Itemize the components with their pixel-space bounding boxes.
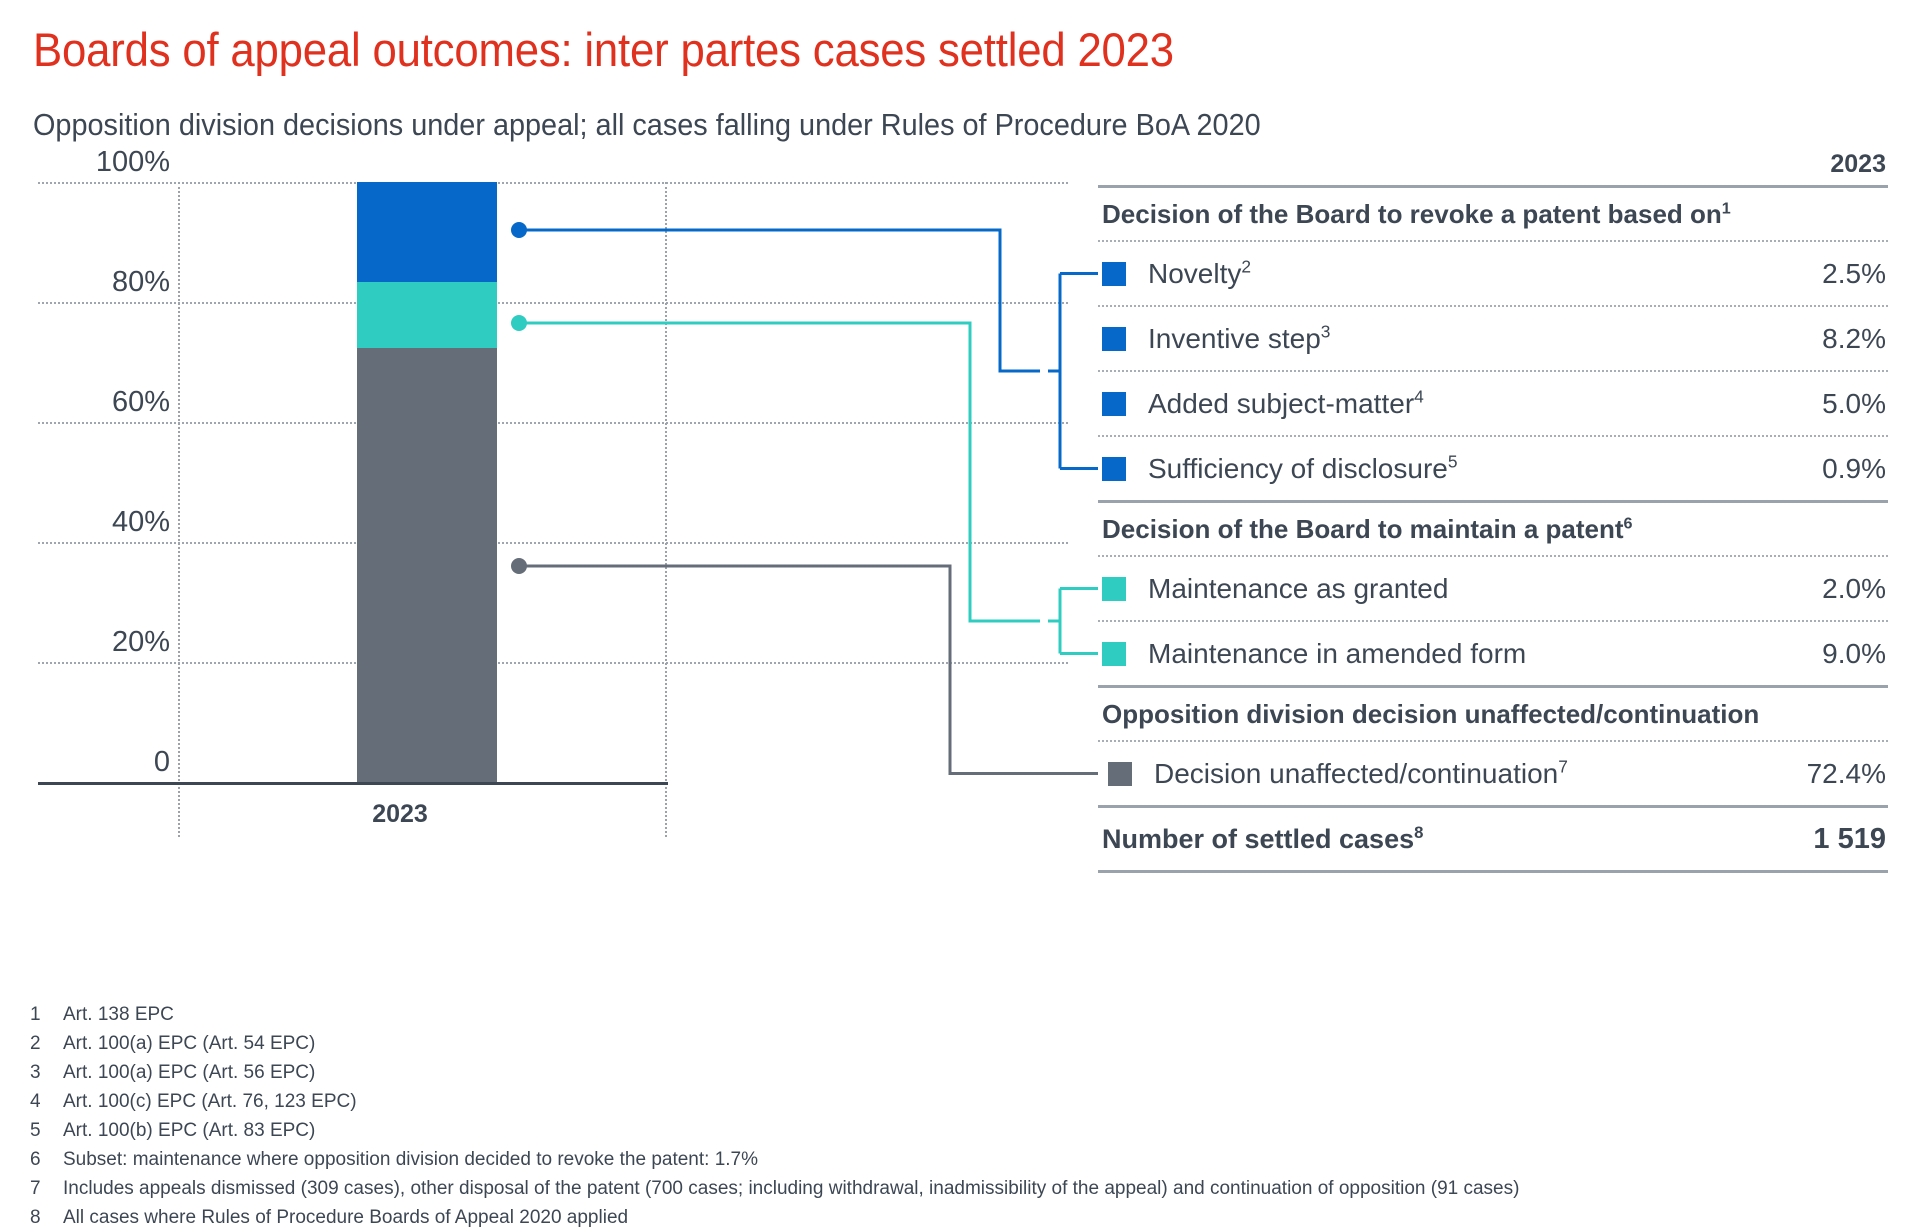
bar-segment[interactable] [357,348,497,782]
y-axis-tick-label: 40% [30,506,170,538]
legend-row-value: 2.5% [1822,258,1888,290]
legend-row-label: Maintenance as granted [1148,573,1822,605]
legend-color-swatch [1102,392,1126,416]
footnote-number: 8 [30,1203,63,1232]
footnote-number: 3 [30,1058,63,1087]
y-axis-tick-label: 20% [30,626,170,658]
legend-row-label: Inventive step3 [1148,323,1822,355]
footnote-text: Includes appeals dismissed (309 cases), … [63,1174,1890,1203]
legend-total-rule-bottom [1098,870,1888,873]
footnote-marker: 2 [1241,256,1251,276]
legend-row-label: Added subject-matter4 [1148,388,1822,420]
legend-row[interactable]: Inventive step38.2% [1098,307,1888,370]
gridline [38,542,1068,544]
legend-row-value: 2.0% [1822,573,1888,605]
footnote-text: Art. 100(a) EPC (Art. 56 EPC) [63,1058,1890,1087]
chart-page: Boards of appeal outcomes: inter partes … [0,0,1920,1080]
bar-segment[interactable] [357,182,497,282]
legend-row-label: Sufficiency of disclosure5 [1148,453,1822,485]
legend-color-swatch [1108,762,1132,786]
legend-row-value: 0.9% [1822,453,1888,485]
vertical-gridline [665,182,667,837]
footnote-text: Art. 138 EPC [63,1000,1890,1029]
footnote-number: 5 [30,1116,63,1145]
legend-row[interactable]: Maintenance as granted2.0% [1098,557,1888,620]
legend-row-value: 5.0% [1822,388,1888,420]
gridline [38,302,1068,304]
legend-row-label: Decision unaffected/continuation7 [1154,758,1807,790]
bar-chart: 100%80%60%40%20%0 2023 [0,150,1110,710]
legend-total-label: Number of settled cases8 [1102,824,1813,855]
legend-table: 2023 Decision of the Board to revoke a p… [1098,150,1888,873]
page-title: Boards of appeal outcomes: inter partes … [33,22,1174,78]
footnote-marker: 4 [1414,386,1424,406]
footnote-item: 2Art. 100(a) EPC (Art. 54 EPC) [30,1029,1890,1058]
legend-row-label: Novelty2 [1148,258,1822,290]
legend-row[interactable]: Sufficiency of disclosure50.9% [1098,437,1888,500]
legend-section-heading: Decision of the Board to revoke a patent… [1098,188,1888,240]
footnote-number: 6 [30,1145,63,1174]
legend-color-swatch [1102,327,1126,351]
y-axis-tick-label: 0 [30,746,170,778]
footnote-number: 4 [30,1087,63,1116]
legend-row-label: Maintenance in amended form [1148,638,1822,670]
footnote-item: 1Art. 138 EPC [30,1000,1890,1029]
gridline [38,182,1068,184]
footnote-item: 6Subset: maintenance where opposition di… [30,1145,1890,1174]
page-subtitle: Opposition division decisions under appe… [33,106,1261,144]
legend-color-swatch [1102,262,1126,286]
footnotes-list: 1Art. 138 EPC2Art. 100(a) EPC (Art. 54 E… [30,1000,1890,1232]
legend-row[interactable]: Maintenance in amended form9.0% [1098,622,1888,685]
legend-row-value: 9.0% [1822,638,1888,670]
footnote-text: Art. 100(c) EPC (Art. 76, 123 EPC) [63,1087,1890,1116]
legend-row-value: 8.2% [1822,323,1888,355]
gridline [38,662,1068,664]
footnote-text: Art. 100(a) EPC (Art. 54 EPC) [63,1029,1890,1058]
vertical-gridline [178,182,180,837]
legend-body: Decision of the Board to revoke a patent… [1098,185,1888,873]
legend-total-row: Number of settled cases81 519 [1098,808,1888,870]
footnote-marker: 7 [1558,756,1568,776]
legend-color-swatch [1102,642,1126,666]
legend-total-value: 1 519 [1813,823,1888,856]
footnote-marker: 3 [1321,321,1331,341]
footnote-number: 2 [30,1029,63,1058]
x-axis-baseline [38,782,668,785]
legend-row-value: 72.4% [1807,758,1888,790]
footnote-item: 5Art. 100(b) EPC (Art. 83 EPC) [30,1116,1890,1145]
y-axis-tick-label: 80% [30,266,170,298]
legend-color-swatch [1102,457,1126,481]
legend-row[interactable]: Novelty22.5% [1098,242,1888,305]
y-axis-tick-label: 60% [30,386,170,418]
footnote-marker: 1 [1722,199,1731,217]
legend-color-swatch [1102,577,1126,601]
gridline [38,422,1068,424]
footnote-marker: 8 [1414,823,1423,842]
legend-section-heading: Opposition division decision unaffected/… [1098,688,1888,740]
footnote-item: 8All cases where Rules of Procedure Boar… [30,1203,1890,1232]
footnote-number: 7 [30,1174,63,1203]
footnote-item: 4Art. 100(c) EPC (Art. 76, 123 EPC) [30,1087,1890,1116]
footnote-text: Art. 100(b) EPC (Art. 83 EPC) [63,1116,1890,1145]
x-axis-label-2023: 2023 [300,800,500,829]
footnote-text: All cases where Rules of Procedure Board… [63,1203,1890,1232]
footnote-marker: 5 [1448,451,1458,471]
footnote-marker: 6 [1624,514,1633,532]
legend-year-header: 2023 [1098,150,1888,185]
y-axis-tick-label: 100% [30,146,170,178]
footnote-item: 3Art. 100(a) EPC (Art. 56 EPC) [30,1058,1890,1087]
footnote-item: 7Includes appeals dismissed (309 cases),… [30,1174,1890,1203]
legend-row[interactable]: Decision unaffected/continuation772.4% [1098,742,1888,805]
legend-section-heading: Decision of the Board to maintain a pate… [1098,503,1888,555]
footnote-text: Subset: maintenance where opposition div… [63,1145,1890,1174]
bar-segment[interactable] [357,282,497,348]
footnote-number: 1 [30,1000,63,1029]
legend-row[interactable]: Added subject-matter45.0% [1098,372,1888,435]
